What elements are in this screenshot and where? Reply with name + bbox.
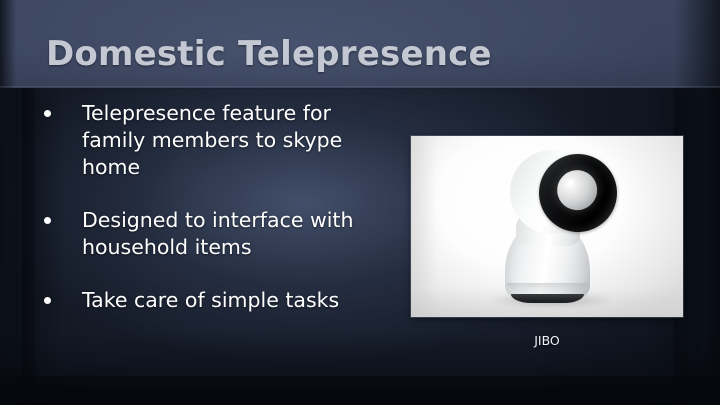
title-band-right-shade: [674, 0, 720, 88]
title-band-separator: [0, 86, 720, 89]
bullet-text: Take care of simple tasks: [82, 287, 339, 314]
jibo-robot-illustration: [475, 144, 625, 314]
bullet-text: Telepresence feature for family members …: [82, 100, 394, 181]
robot-head-shell: [510, 150, 594, 234]
slide: Domestic Telepresence Telepresence featu…: [0, 0, 720, 405]
image-caption: JIBO: [411, 333, 683, 348]
robot-photo: [411, 136, 683, 317]
list-item: Telepresence feature for family members …: [44, 100, 394, 181]
page-title: Domestic Telepresence: [46, 34, 492, 74]
robot-foot-ring: [511, 294, 584, 303]
bullet-dot-icon: [44, 110, 51, 117]
bullet-dot-icon: [44, 297, 51, 304]
robot-screen-face: [530, 145, 626, 241]
list-item: Designed to interface with household ite…: [44, 207, 394, 261]
bullet-list: Telepresence feature for family members …: [44, 100, 394, 340]
robot-base-seam: [507, 283, 588, 293]
bullet-text: Designed to interface with household ite…: [82, 207, 394, 261]
bullet-dot-icon: [44, 217, 51, 224]
list-item: Take care of simple tasks: [44, 287, 394, 314]
title-band-left-shade: [0, 0, 16, 88]
